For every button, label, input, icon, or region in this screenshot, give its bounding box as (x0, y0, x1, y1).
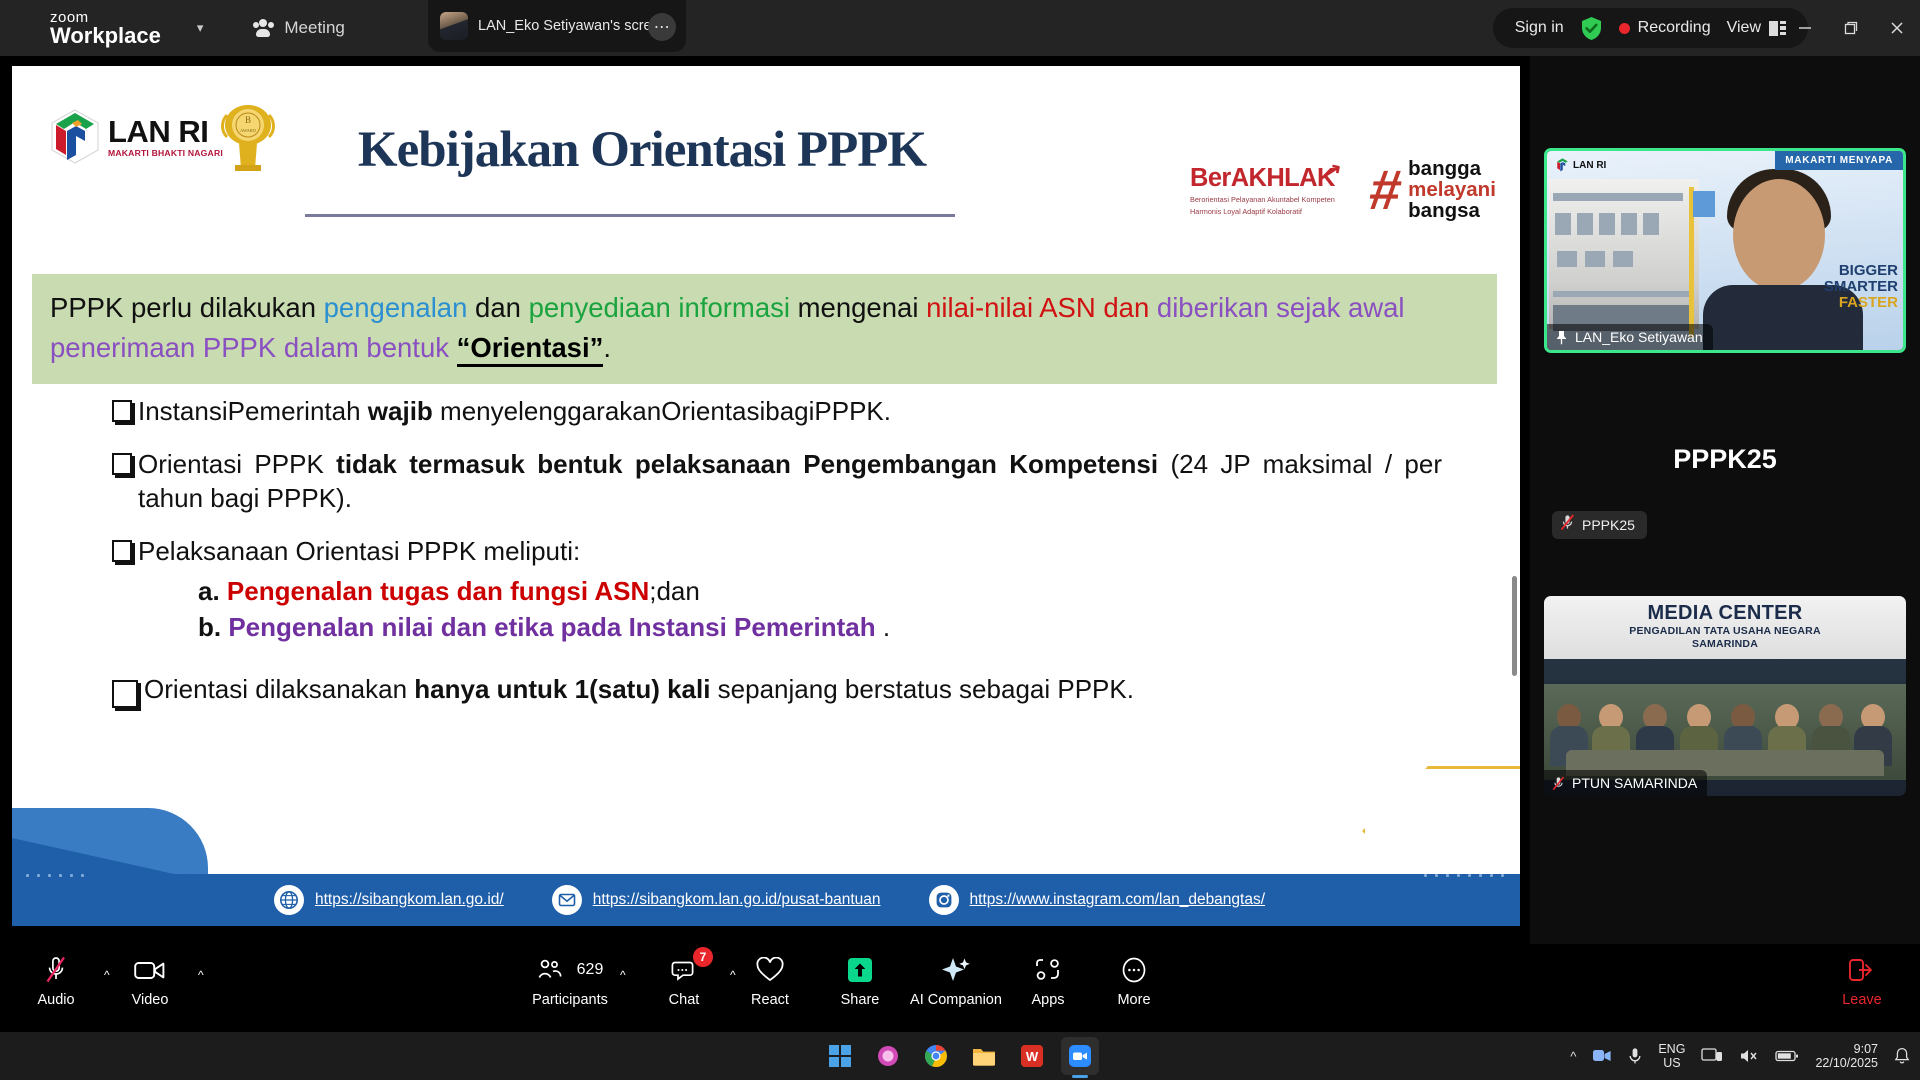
audio-label: Audio (37, 992, 74, 1008)
sub-a-text: Pengenalan tugas dan fungsi ASN (227, 576, 649, 606)
maximize-button[interactable] (1828, 0, 1874, 56)
ai-companion-button[interactable]: AI Companion (908, 954, 1004, 1022)
zoom-taskbar-icon[interactable] (1061, 1037, 1099, 1075)
speaker-name-bar: LAN_Eko Setiyawan (1547, 324, 1713, 350)
chat-icon: 7 (669, 954, 699, 986)
chrome-icon[interactable] (917, 1037, 955, 1075)
share-button[interactable]: Share (812, 954, 908, 1022)
makarti-menyapa-badge: MAKARTI MENYAPA (1775, 151, 1903, 170)
participant-muted-label: PPPK25 (1582, 517, 1635, 533)
mic-muted-icon (1552, 776, 1565, 791)
tab-meeting[interactable]: Meeting (253, 18, 344, 38)
video-label: Video (132, 992, 169, 1008)
more-label: More (1117, 992, 1150, 1008)
hl-seg8: “Orientasi” (457, 332, 604, 367)
building-graphic (1549, 179, 1699, 329)
mini-lanri-logo: LAN RI (1555, 157, 1606, 173)
chevron-down-icon[interactable]: ▾ (197, 20, 204, 36)
close-button[interactable] (1874, 0, 1920, 56)
hl-seg4: penyediaan informasi (529, 292, 790, 323)
bg-text-l2: SMARTER (1824, 279, 1898, 295)
footer-link-help[interactable]: https://sibangkom.lan.go.id/pusat-bantua… (552, 885, 881, 915)
speaker-person (1697, 161, 1892, 353)
participant-muted-chip[interactable]: PPPK25 (1552, 511, 1647, 539)
apps-label: Apps (1031, 992, 1064, 1008)
berakhlak-sub1: Berorientasi Pelayanan Akuntabel Kompete… (1190, 195, 1355, 205)
b4-bold: hanya untuk 1(satu) kali (414, 674, 717, 704)
react-button[interactable]: React (722, 954, 818, 1022)
participants-button[interactable]: 629 Participants (522, 954, 618, 1022)
hl-seg5: mengenai (790, 292, 926, 323)
sub-b-text: Pengenalan nilai dan etika pada Instansi… (228, 612, 875, 642)
system-tray: ^ ENG US 9:07 22/10/2025 (1570, 1032, 1910, 1080)
sign-in-button[interactable]: Sign in (1515, 19, 1564, 37)
react-label: React (751, 992, 789, 1008)
scrollbar[interactable] (1512, 576, 1517, 676)
b2-bold: tidak termasuk bentuk pelaksanaan Pengem… (336, 449, 1158, 479)
sub-item-b: b. Pengenalan nilai dan etika pada Insta… (198, 610, 1442, 646)
dot-pattern-left-icon (22, 870, 92, 882)
mail-icon (552, 885, 582, 915)
active-app-indicator (1072, 1075, 1088, 1078)
face-shape (1733, 179, 1825, 291)
participant-name-large: PPPK25 (1530, 444, 1920, 475)
lang-line2: US (1658, 1056, 1685, 1070)
share-screen-icon (846, 954, 874, 986)
hl-seg6: nilai-nilai ASN dan (926, 292, 1149, 323)
checkbox-bullet-icon (112, 453, 132, 475)
room-people-row (1544, 684, 1906, 780)
sub-a-tail: ;dan (649, 576, 700, 606)
footer-links: https://sibangkom.lan.go.id/ https://sib… (274, 885, 1265, 915)
highlight-paragraph: PPPK perlu dilakukan pengenalan dan peny… (32, 274, 1497, 384)
file-explorer-icon[interactable] (965, 1037, 1003, 1075)
presentation-slide: LAN RI MAKARTI BHAKTI NAGARI B AWARD Keb… (12, 66, 1520, 926)
camera-icon (134, 954, 166, 986)
footer-url-help: https://sibangkom.lan.go.id/pusat-bantua… (593, 891, 881, 909)
bangga-word2: melayani (1408, 179, 1496, 200)
chat-unread-badge: 7 (693, 947, 713, 967)
view-label: View (1727, 19, 1761, 37)
lanri-logo: LAN RI MAKARTI BHAKTI NAGARI (48, 108, 223, 166)
b1-post: menyelenggarakanOrientasibagiPPPK. (440, 396, 891, 426)
svg-text:B: B (245, 115, 251, 125)
ai-companion-label: AI Companion (910, 992, 1002, 1008)
recording-label: Recording (1638, 19, 1711, 37)
tray-zoom-icon[interactable] (1592, 1047, 1612, 1065)
berakhlak-logo: ↗ BerAKHLAK Berorientasi Pelayanan Akunt… (1190, 164, 1355, 217)
sub-b-tail: . (876, 612, 890, 642)
bg-text-l1: BIGGER (1824, 263, 1898, 279)
lanri-hex-icon (1555, 157, 1570, 173)
lanri-tagline: MAKARTI BHAKTI NAGARI (108, 149, 223, 158)
list-item: Orientasi PPPK tidak termasuk bentuk pel… (112, 447, 1442, 516)
hl-seg1: PPPK perlu dilakukan (50, 292, 324, 323)
globe-icon (274, 885, 304, 915)
checkbox-bullet-icon (112, 540, 132, 562)
meeting-controls-toolbar: Audio ^ Video ^ 629 Participants ^ 7 Cha… (0, 944, 1920, 1032)
slide-body: InstansiPemerintah wajib menyelenggaraka… (112, 394, 1442, 714)
room-name-label: PTUN SAMARINDA (1572, 775, 1697, 791)
bangga-word3: bangsa (1408, 200, 1496, 221)
clock[interactable]: 9:07 22/10/2025 (1815, 1042, 1878, 1071)
tray-chevron-icon[interactable]: ^ (1570, 1049, 1576, 1064)
tab-meeting-label: Meeting (284, 18, 344, 38)
tray-mic-icon[interactable] (1628, 1047, 1642, 1065)
leave-button[interactable]: Leave (1816, 954, 1908, 1022)
sub-a-marker: a. (198, 576, 220, 606)
people-icon (253, 19, 275, 37)
b1-bold: wajib (368, 396, 440, 426)
footer-url-website: https://sibangkom.lan.go.id/ (315, 891, 504, 909)
hash-icon: # (1367, 166, 1405, 214)
list-item: InstansiPemerintah wajib menyelenggaraka… (112, 394, 1442, 429)
audio-button[interactable]: Audio (8, 954, 104, 1022)
page-title: Kebijakan Orientasi PPPK (292, 121, 992, 179)
sub-b-marker: b. (198, 612, 221, 642)
video-options-caret-icon[interactable]: ^ (198, 968, 204, 982)
video-background-text: BIGGER SMARTER FASTER (1824, 263, 1898, 312)
tray-display-icon[interactable] (1701, 1048, 1723, 1064)
more-button[interactable]: More (1086, 954, 1182, 1022)
room-sub2: SAMARINDA (1544, 638, 1906, 651)
more-options-icon[interactable]: ⋯ (648, 13, 676, 41)
chat-label: Chat (669, 992, 700, 1008)
b4-post: sepanjang berstatus sebagai PPPK. (718, 674, 1134, 704)
participants-options-caret-icon[interactable]: ^ (620, 968, 626, 982)
clock-time: 9:07 (1815, 1042, 1878, 1056)
hl-seg3: dan (467, 292, 528, 323)
tray-battery-icon[interactable] (1775, 1049, 1799, 1063)
participants-video-sidebar: BIGGER SMARTER FASTER MAKARTI MENYAPA LA… (1530, 56, 1920, 944)
recording-indicator[interactable]: Recording (1619, 19, 1711, 37)
record-dot-icon (1619, 23, 1630, 34)
tab-screen-share-label: LAN_Eko Setiyawan's screen (478, 18, 668, 34)
title-underline (305, 214, 955, 217)
checkbox-bullet-icon (112, 400, 132, 422)
share-label: Share (841, 992, 880, 1008)
mic-muted-icon (42, 954, 70, 986)
window-controls (1782, 0, 1920, 56)
footer-link-website[interactable]: https://sibangkom.lan.go.id/ (274, 885, 504, 915)
speaker-name-label: LAN_Eko Setiyawan (1575, 329, 1703, 345)
lanri-name: LAN RI (108, 114, 208, 149)
video-button[interactable]: Video (102, 954, 198, 1022)
shared-screen-stage: LAN RI MAKARTI BHAKTI NAGARI B AWARD Keb… (0, 56, 1530, 944)
video-tile-room[interactable]: MEDIA CENTER PENGADILAN TATA USAHA NEGAR… (1544, 596, 1906, 796)
avatar (440, 12, 468, 40)
windows-taskbar: W ^ ENG US 9:07 22/10/2025 (0, 1032, 1920, 1080)
b2-pre: Orientasi PPPK (138, 449, 336, 479)
notifications-icon[interactable] (1894, 1047, 1910, 1065)
slide-footer: https://sibangkom.lan.go.id/ https://sib… (12, 874, 1520, 926)
participants-icon: 629 (537, 954, 604, 986)
clock-date: 22/10/2025 (1815, 1056, 1878, 1070)
checkbox-bullet-icon (112, 680, 138, 708)
heart-icon (756, 954, 784, 986)
list-item: Pelaksanaan Orientasi PPPK meliputi: (112, 534, 1442, 569)
leave-label: Leave (1842, 992, 1882, 1008)
taskbar-apps: W (821, 1037, 1099, 1075)
hl-seg2: pengenalan (324, 292, 468, 323)
footer-url-instagram: https://www.instagram.com/lan_debangtas/ (970, 891, 1266, 909)
berakhlak-sub2: Harmonis Loyal Adaptif Kolaboratif (1190, 207, 1355, 217)
titlebar-right-cluster: Sign in Recording View (1493, 8, 1808, 48)
b4-pre: Orientasi dilaksanakan (144, 674, 414, 704)
sparkle-icon (941, 954, 971, 986)
tray-volume-icon[interactable] (1739, 1048, 1759, 1064)
room-title: MEDIA CENTER (1544, 602, 1906, 625)
minimize-button[interactable] (1782, 0, 1828, 56)
svg-text:W: W (1026, 1049, 1039, 1064)
room-sub1: PENGADILAN TATA USAHA NEGARA (1544, 625, 1906, 638)
language-indicator[interactable]: ENG US (1658, 1042, 1685, 1070)
hl-seg9: . (603, 332, 611, 363)
start-button[interactable] (821, 1037, 859, 1075)
security-shield-icon[interactable] (1580, 16, 1603, 41)
view-button[interactable]: View (1727, 19, 1786, 37)
award-medal-icon: B AWARD (217, 101, 279, 173)
sub-item-a: a. Pengenalan tugas dan fungsi ASN;dan (198, 574, 1442, 610)
instagram-icon (929, 885, 959, 915)
b3-text: Pelaksanaan Orientasi PPPK meliputi: (138, 534, 580, 569)
video-tile-speaker[interactable]: BIGGER SMARTER FASTER MAKARTI MENYAPA LA… (1544, 148, 1906, 353)
room-banner: MEDIA CENTER PENGADILAN TATA USAHA NEGAR… (1544, 596, 1906, 659)
apps-icon (1034, 954, 1062, 986)
bangga-melayani-bangsa-logo: # bangga melayani bangsa (1370, 158, 1496, 221)
apps-button[interactable]: Apps (1000, 954, 1096, 1022)
footer-link-instagram[interactable]: https://www.instagram.com/lan_debangtas/ (929, 885, 1266, 915)
bg-text-l3: FASTER (1824, 295, 1898, 311)
lanri-hex-icon (48, 108, 102, 166)
dot-pattern-right-icon (1420, 870, 1510, 882)
chat-button[interactable]: 7 Chat (636, 954, 732, 1022)
list-item: Orientasi dilaksanakan hanya untuk 1(sat… (112, 674, 1442, 708)
mic-muted-icon (1560, 514, 1575, 536)
participants-count: 629 (577, 961, 604, 979)
brand-line-workplace: Workplace (50, 25, 161, 47)
leave-icon (1847, 954, 1877, 986)
svg-text:AWARD: AWARD (240, 128, 256, 133)
copilot-icon[interactable] (869, 1037, 907, 1075)
mini-lanri-label: LAN RI (1573, 160, 1606, 171)
b1-pre: InstansiPemerintah (138, 396, 368, 426)
more-icon (1121, 954, 1147, 986)
room-name-bar: PTUN SAMARINDA (1544, 770, 1707, 796)
lang-line1: ENG (1658, 1042, 1685, 1056)
bangga-word1: bangga (1408, 158, 1496, 179)
wps-office-icon[interactable]: W (1013, 1037, 1051, 1075)
zoom-brand-logo: zoom Workplace (50, 10, 161, 47)
participants-label: Participants (532, 992, 608, 1008)
pin-icon (1555, 330, 1568, 345)
